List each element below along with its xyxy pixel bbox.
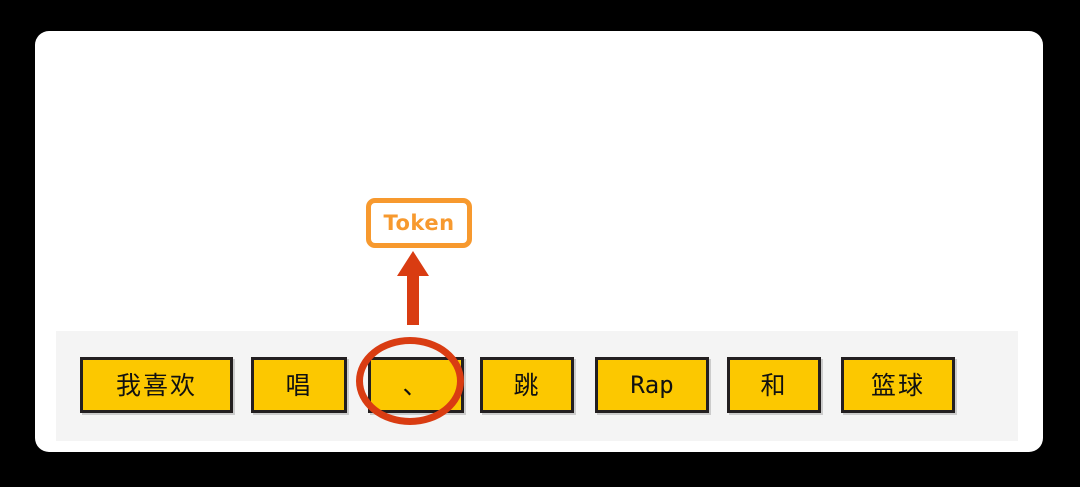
token-callout-label: Token xyxy=(383,211,454,235)
token-chip[interactable]: 、 xyxy=(368,357,464,413)
token-row-band: 我喜欢唱、跳Rap和篮球 xyxy=(56,331,1018,441)
token-chip[interactable]: 和 xyxy=(727,357,821,413)
token-chip[interactable]: 唱 xyxy=(251,357,347,413)
content-card: 我喜欢唱、跳Rap和篮球 xyxy=(35,31,1043,452)
token-callout-box: Token xyxy=(366,198,472,248)
arrow-up-icon xyxy=(396,250,430,326)
token-chip[interactable]: 篮球 xyxy=(841,357,955,413)
token-chip[interactable]: Rap xyxy=(595,357,709,413)
illustration-canvas: 我喜欢唱、跳Rap和篮球 Token xyxy=(0,0,1080,487)
token-chip[interactable]: 跳 xyxy=(480,357,574,413)
token-chip[interactable]: 我喜欢 xyxy=(80,357,233,413)
